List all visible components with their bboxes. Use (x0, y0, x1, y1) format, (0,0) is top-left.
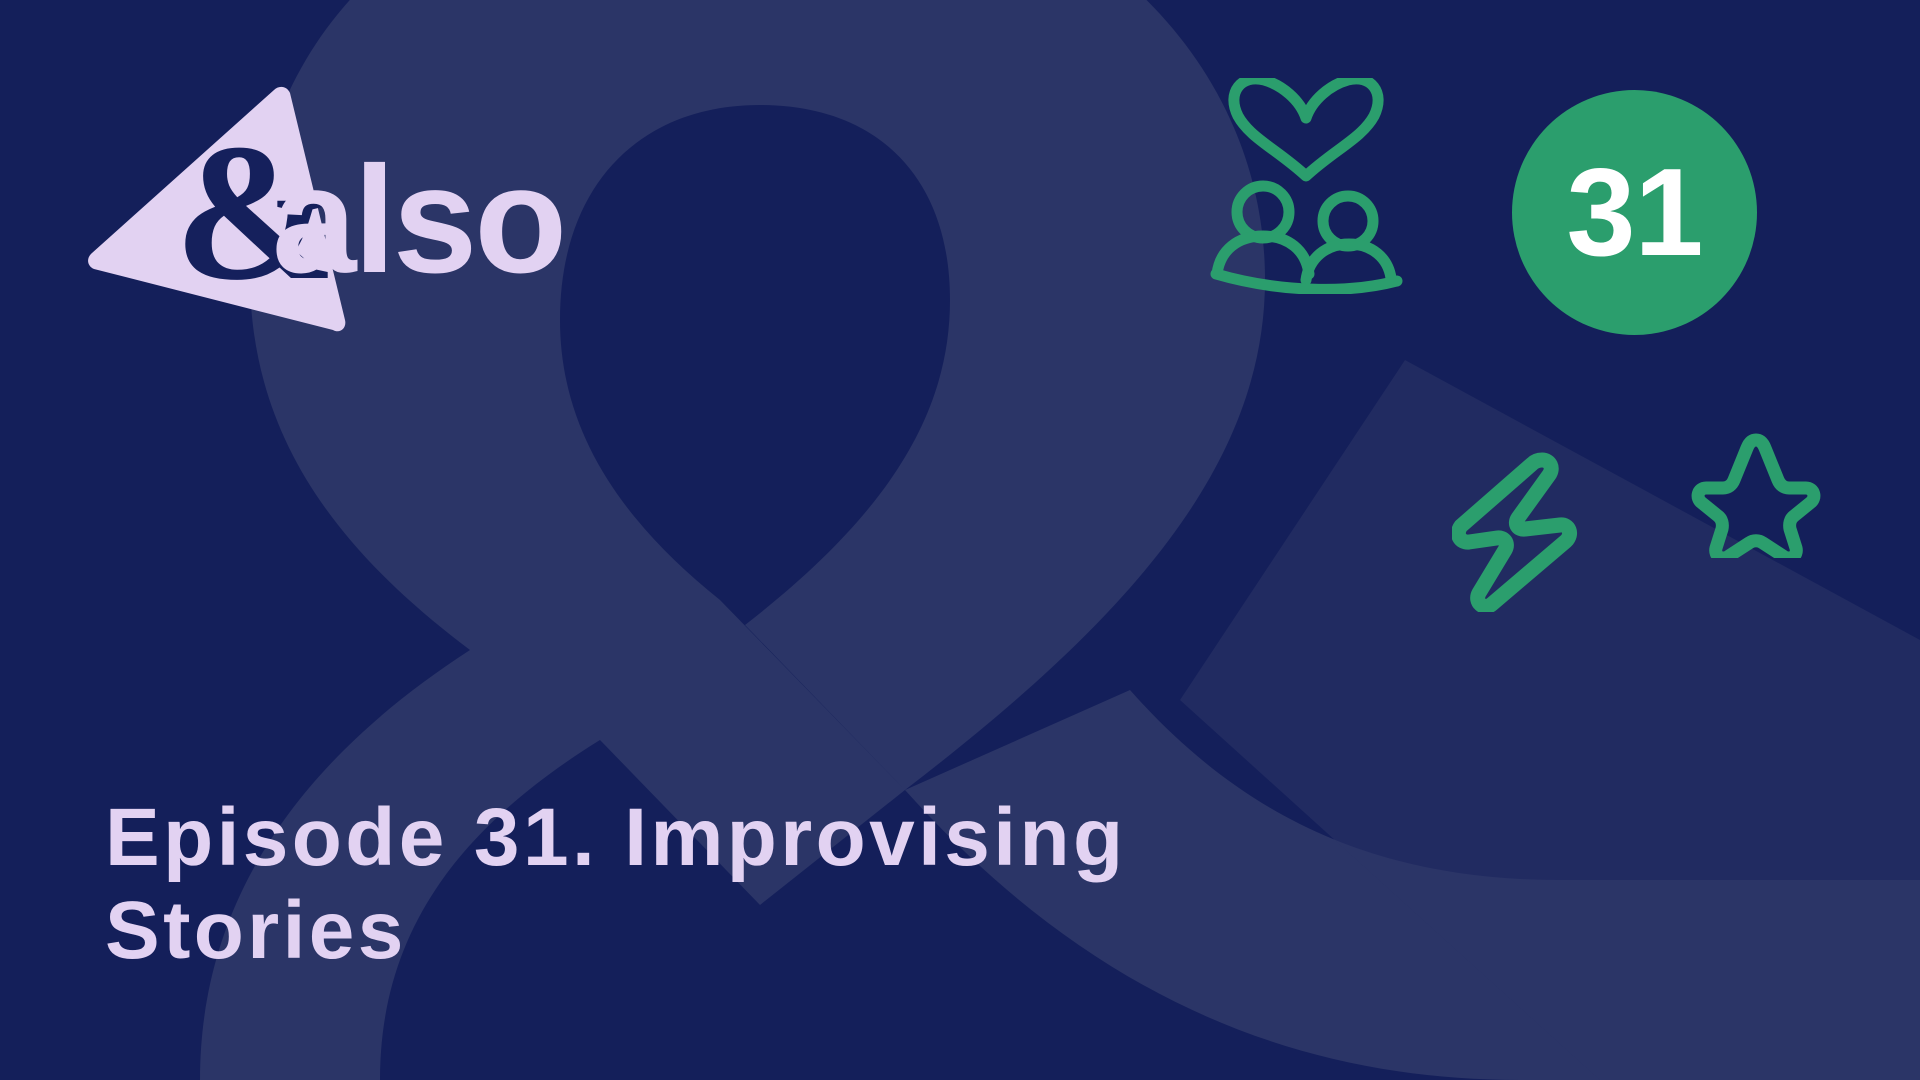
logo-wordmark: also (272, 135, 564, 305)
episode-number-badge: 31 (1512, 90, 1757, 335)
brand-logo: & also (88, 82, 628, 352)
heart-people-icon (1208, 78, 1404, 294)
star-icon (1690, 430, 1822, 558)
episode-title: Episode 31. Improvising Stories (105, 791, 1445, 978)
episode-number-text: 31 (1567, 151, 1703, 275)
episode-cover-card: & also 31 Episode 31. Imp (0, 0, 1920, 1080)
lightning-bolt-icon (1452, 452, 1582, 612)
